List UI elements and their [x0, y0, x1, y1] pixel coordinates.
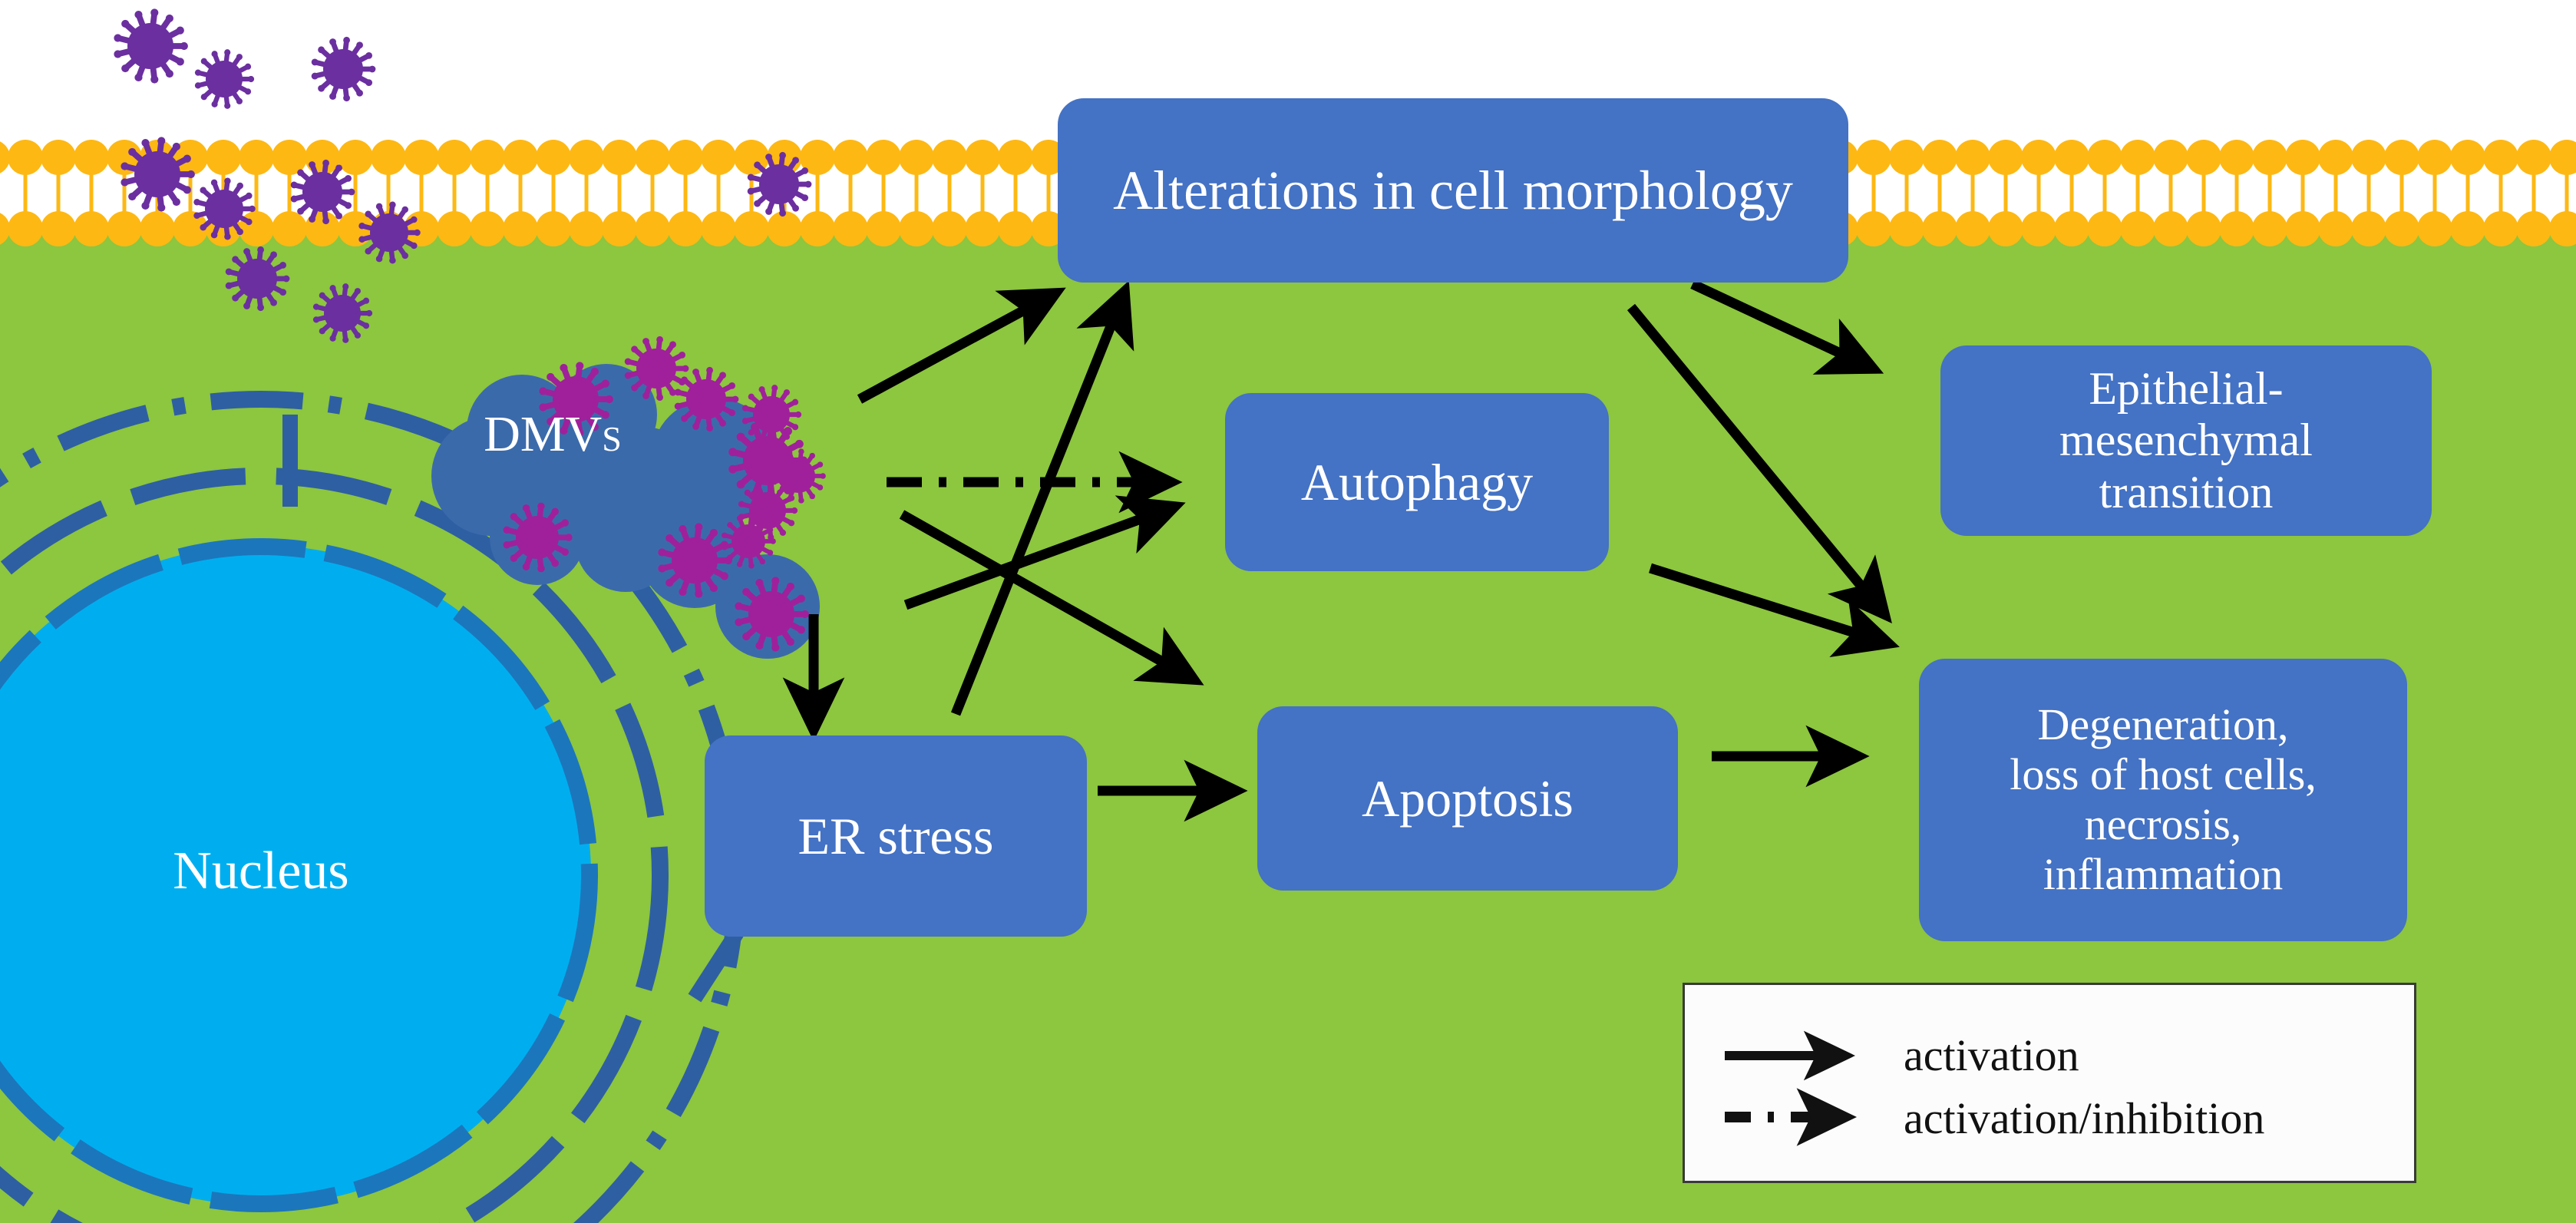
node-alterations-label: Alterations in cell morphology: [1058, 98, 1848, 283]
node-er-stress[interactable]: ER stress: [705, 735, 1087, 937]
virion-icon: [539, 362, 613, 436]
virion-icon: [193, 178, 255, 240]
virion-icon: [735, 577, 809, 651]
virion-icon: [291, 160, 355, 224]
node-emt[interactable]: Epithelial- mesenchymal transition: [1940, 345, 2432, 536]
virion-icon: [195, 49, 254, 109]
legend-label-activation-inhibition: activation/inhibition: [1904, 1092, 2264, 1144]
node-degeneration-line2: loss of host cells,: [2010, 750, 2317, 800]
virion-icon: [121, 137, 195, 211]
node-apoptosis-label: Apoptosis: [1257, 706, 1678, 891]
node-emt-line2: mesenchymal: [2059, 415, 2313, 466]
node-degeneration[interactable]: Degeneration, loss of host cells, necros…: [1919, 659, 2407, 941]
virion-icon: [742, 385, 801, 445]
virion-icon: [313, 283, 372, 343]
legend-icons: [1685, 985, 2414, 1181]
node-degeneration-line4: inflammation: [2043, 850, 2284, 900]
legend-label-activation: activation: [1904, 1030, 2079, 1081]
virion-icon: [312, 37, 376, 101]
virion-icon: [226, 246, 290, 311]
virion-icon: [658, 523, 732, 597]
virion-icon: [358, 202, 420, 264]
node-alterations[interactable]: Alterations in cell morphology: [1058, 98, 1848, 283]
node-emt-line1: Epithelial-: [2089, 363, 2283, 415]
virion-icon: [675, 367, 739, 431]
node-emt-line3: transition: [2099, 467, 2274, 518]
node-autophagy[interactable]: Autophagy: [1225, 393, 1609, 571]
virion-icon: [748, 152, 812, 217]
node-degeneration-line3: necrosis,: [2085, 800, 2242, 850]
node-autophagy-label: Autophagy: [1225, 393, 1609, 571]
node-er-stress-label: ER stress: [705, 735, 1087, 937]
diagram-canvas: Alterations in cell morphology Autophagy…: [0, 0, 2576, 1223]
node-emt-label: Epithelial- mesenchymal transition: [1940, 345, 2432, 536]
node-degeneration-line1: Degeneration,: [2038, 700, 2289, 750]
legend-box: activation activation/inhibition: [1683, 983, 2416, 1183]
node-apoptosis[interactable]: Apoptosis: [1257, 706, 1678, 891]
virion-icon: [114, 8, 188, 83]
virion-icon: [504, 503, 573, 573]
node-degeneration-label: Degeneration, loss of host cells, necros…: [1919, 659, 2407, 941]
